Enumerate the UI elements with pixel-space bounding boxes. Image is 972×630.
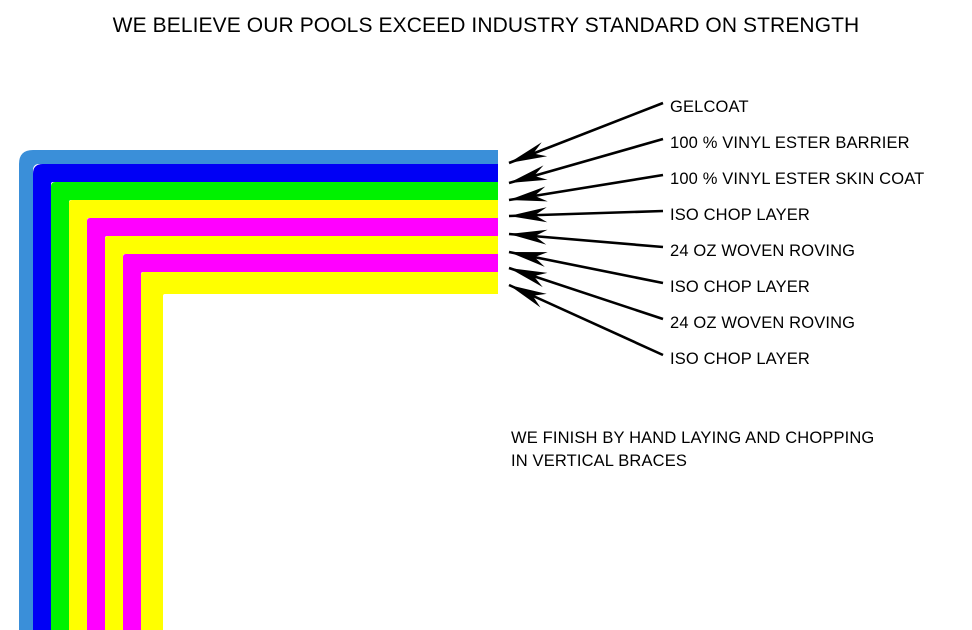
- footnote-line-1: WE FINISH BY HAND LAYING AND CHOPPING: [511, 427, 874, 450]
- layer-band-group: GELCOAT100 % VINYL ESTER BARRIER100 % VI…: [19, 150, 498, 630]
- footnote-line-2: IN VERTICAL BRACES: [511, 450, 874, 473]
- callout-label-5: 24 OZ WOVEN ROVING: [670, 242, 855, 261]
- callout-label-6: ISO CHOP LAYER: [670, 278, 810, 297]
- callout-label-7: 24 OZ WOVEN ROVING: [670, 314, 855, 333]
- callout-label-1: GELCOAT: [670, 98, 749, 117]
- layer-band-7: 24 OZ WOVEN ROVING: [123, 254, 498, 630]
- layer-band-8: ISO CHOP LAYER: [141, 272, 498, 630]
- callout-label-3: 100 % VINYL ESTER SKIN COAT: [670, 170, 924, 189]
- footnote-block: WE FINISH BY HAND LAYING AND CHOPPING IN…: [511, 427, 874, 473]
- callout-label-4: ISO CHOP LAYER: [670, 206, 810, 225]
- callout-label-8: ISO CHOP LAYER: [670, 350, 810, 369]
- pool-wall-layer-stack: GELCOAT100 % VINYL ESTER BARRIER100 % VI…: [0, 0, 560, 630]
- callout-label-2: 100 % VINYL ESTER BARRIER: [670, 134, 910, 153]
- layer-band-6: ISO CHOP LAYER: [105, 236, 498, 630]
- diagram-canvas: WE BELIEVE OUR POOLS EXCEED INDUSTRY STA…: [0, 0, 972, 630]
